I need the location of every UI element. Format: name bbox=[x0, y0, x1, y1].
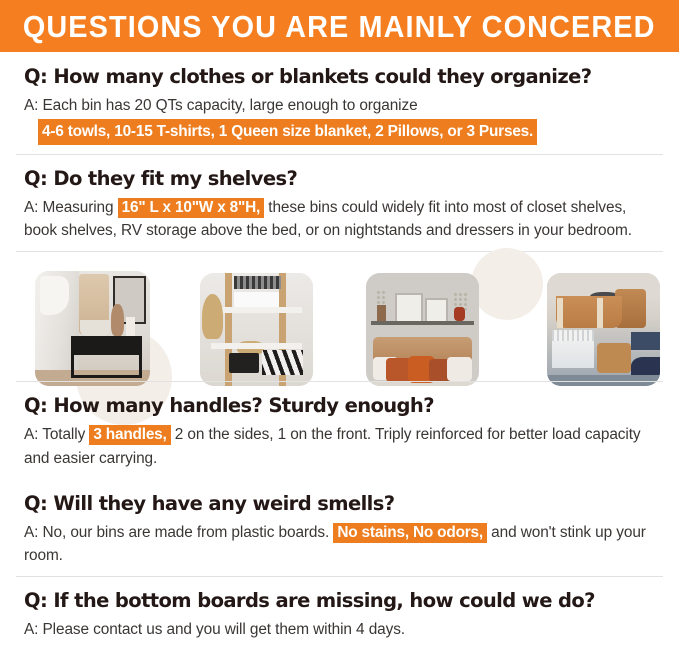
faq-item-1: Q: How many clothes or blankets could th… bbox=[16, 52, 663, 145]
decorative-circle-right bbox=[471, 248, 543, 320]
faq-answer-3-prefix: A: Totally bbox=[24, 426, 89, 443]
faq-question-4: Q: Will they have any weird smells? bbox=[24, 492, 663, 515]
lifestyle-photo-2 bbox=[200, 273, 313, 386]
faq-question-2: Q: Do they fit my shelves? bbox=[24, 167, 663, 190]
faq-item-2: Q: Do they fit my shelves? A: Measuring … bbox=[16, 154, 663, 242]
faq-answer-4-highlight: No stains, No odors, bbox=[333, 523, 487, 543]
faq-question-1: Q: How many clothes or blankets could th… bbox=[24, 65, 663, 88]
page-title: QUESTIONS YOU ARE MAINLY CONCERED bbox=[23, 11, 656, 42]
faq-answer-4: A: No, our bins are made from plastic bo… bbox=[24, 521, 663, 567]
page-header-banner: QUESTIONS YOU ARE MAINLY CONCERED bbox=[0, 0, 679, 52]
faq-answer-2: A: Measuring 16" L x 10"W x 8"H, these b… bbox=[24, 196, 663, 242]
faq-item-4: Q: Will they have any weird smells? A: N… bbox=[16, 479, 663, 567]
lifestyle-photo-1 bbox=[35, 271, 150, 386]
faq-answer-3-highlight: 3 handles, bbox=[89, 425, 170, 445]
faq-answer-5: A: Please contact us and you will get th… bbox=[24, 618, 663, 641]
faq-answer-3: A: Totally 3 handles, 2 on the sides, 1 … bbox=[24, 423, 663, 469]
photo-row bbox=[16, 251, 663, 381]
faq-answer-1-highlight: 4-6 towls, 10-15 T-shirts, 1 Queen size … bbox=[38, 119, 537, 145]
faq-answer-4-prefix: A: No, our bins are made from plastic bo… bbox=[24, 524, 333, 541]
faq-question-3: Q: How many handles? Sturdy enough? bbox=[24, 394, 663, 417]
lifestyle-photo-4 bbox=[547, 273, 660, 386]
faq-question-5: Q: If the bottom boards are missing, how… bbox=[24, 589, 663, 612]
faq-answer-1-text: A: Each bin has 20 QTs capacity, large e… bbox=[24, 97, 418, 114]
faq-answer-2-highlight: 16" L x 10"W x 8"H, bbox=[118, 198, 264, 218]
faq-answer-2-prefix: A: Measuring bbox=[24, 199, 118, 216]
faq-answer-1: A: Each bin has 20 QTs capacity, large e… bbox=[24, 94, 663, 145]
lifestyle-photo-3 bbox=[366, 273, 479, 386]
lifestyle-photo-strip bbox=[16, 251, 663, 381]
faq-content: Q: How many clothes or blankets could th… bbox=[0, 52, 679, 641]
faq-item-3: Q: How many handles? Sturdy enough? A: T… bbox=[16, 381, 663, 469]
faq-item-5: Q: If the bottom boards are missing, how… bbox=[16, 576, 663, 641]
